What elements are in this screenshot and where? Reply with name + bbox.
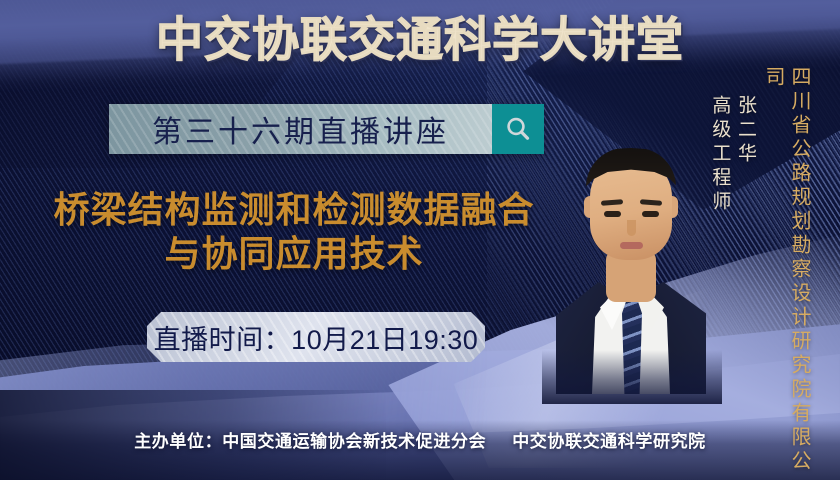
search-icon[interactable]: [492, 104, 544, 154]
lecture-title: 桥梁结构监测和检测数据融合 与协同应用技术: [34, 188, 554, 276]
speaker-organization: 四川省公路规划勘察设计研究院有限公司: [760, 66, 812, 480]
schedule-text: 直播时间：10月21日19:30: [154, 318, 479, 357]
session-bar-body: 第三十六期直播讲座: [109, 104, 492, 154]
schedule-badge: 直播时间：10月21日19:30: [147, 312, 485, 362]
lecture-title-line2: 与协同应用技术: [34, 232, 554, 276]
session-label: 第三十六期直播讲座: [152, 107, 449, 151]
footer-prefix: 主办单位：: [134, 432, 222, 451]
speaker-name: 张二华: [735, 95, 756, 167]
portrait-mouth: [620, 242, 643, 249]
speaker-name-title: 张二华 高级工程师: [707, 95, 758, 215]
portrait-eye-left: [604, 211, 621, 217]
lecture-title-line1: 桥梁结构监测和检测数据融合: [53, 189, 534, 230]
session-bar[interactable]: 第三十六期直播讲座: [109, 104, 544, 154]
portrait-eye-right: [642, 211, 659, 217]
speaker-portrait: [556, 122, 706, 394]
page-title: 中交协联交通科学大讲堂: [0, 16, 840, 63]
speaker-title: 高级工程师: [709, 95, 730, 215]
footer-host-2: 中交协联交通科学研究院: [512, 432, 706, 451]
footer-host-1: 中国交通运输协会新技术促进分会: [222, 432, 486, 451]
webinar-poster: 中交协联交通科学大讲堂 第三十六期直播讲座 桥梁结构监测和检测数据融合 与协同应…: [0, 0, 840, 480]
portrait-nose: [627, 220, 636, 236]
portrait-bottom-fade: [542, 350, 722, 404]
footer-hosts: 主办单位：中国交通运输协会新技术促进分会中交协联交通科学研究院: [0, 427, 840, 452]
